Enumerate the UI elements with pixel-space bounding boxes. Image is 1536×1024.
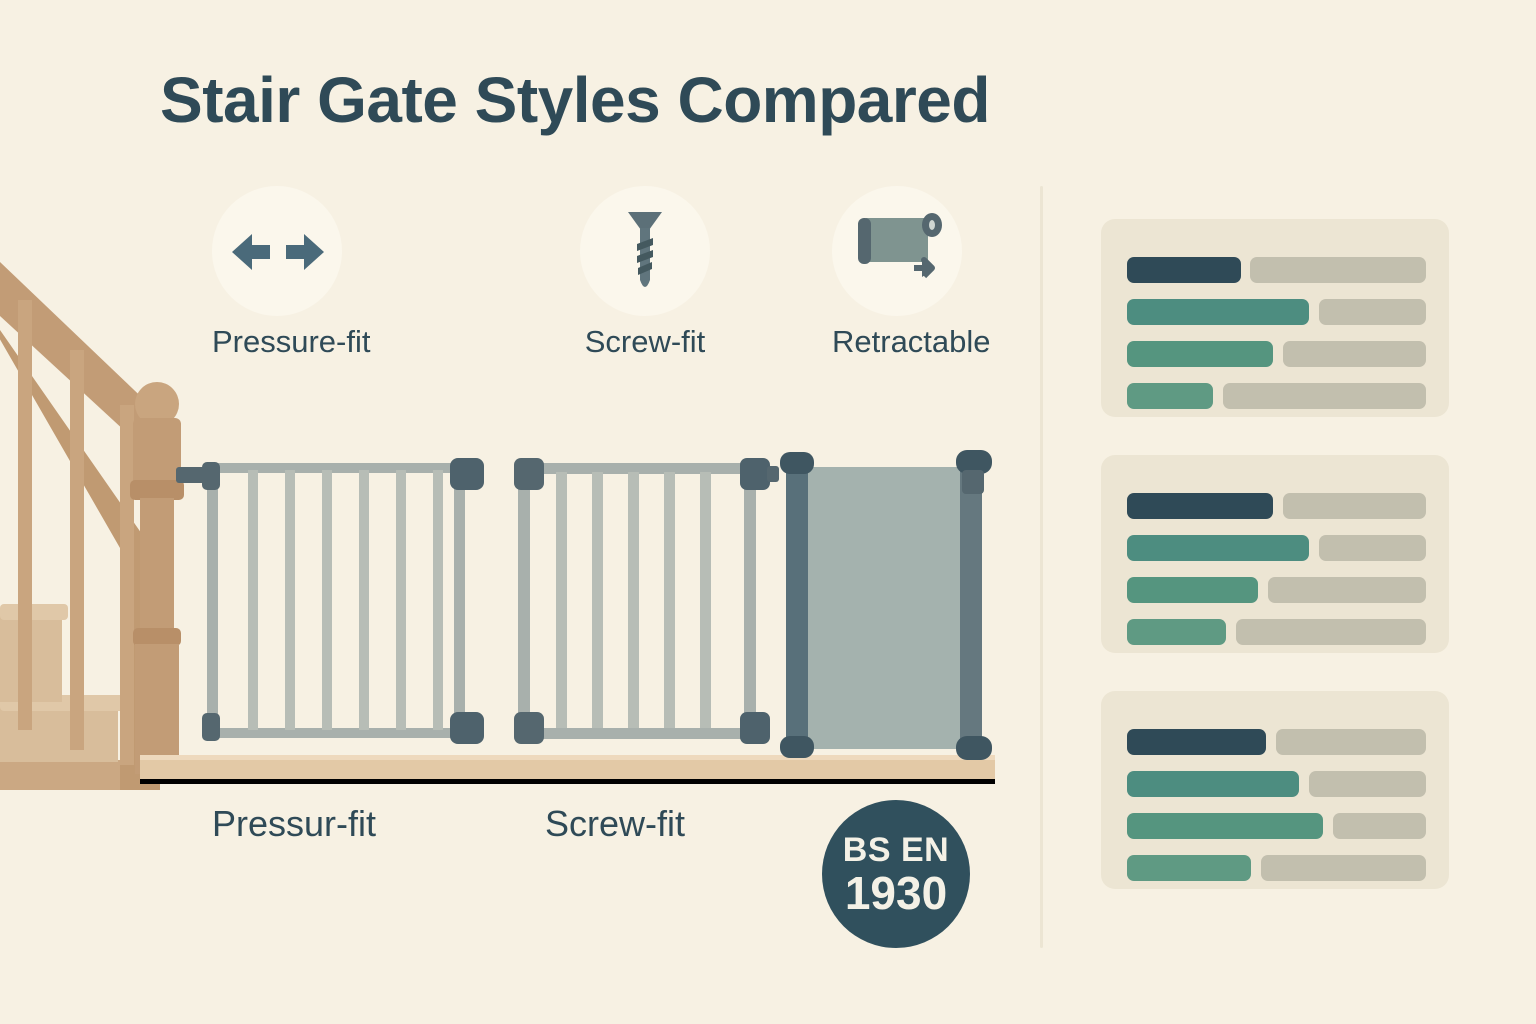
double-arrow-icon (230, 230, 326, 274)
legend-circle-retractable (832, 186, 962, 316)
screw-fit-gate (514, 458, 779, 744)
card-screw-fit[interactable] (1101, 455, 1449, 653)
status-badge: BS EN 1930 (822, 800, 970, 948)
bar-label (1127, 771, 1299, 797)
bar-label (1127, 813, 1323, 839)
bar-label (1127, 535, 1309, 561)
card-row (1101, 813, 1449, 839)
bar-label (1127, 257, 1241, 283)
bar-value (1319, 299, 1426, 325)
bar-value (1309, 771, 1426, 797)
card-row (1101, 341, 1449, 367)
card-row (1101, 855, 1449, 881)
bar-value (1276, 729, 1426, 755)
bar-value (1333, 813, 1426, 839)
legend-item-pressure-fit[interactable]: Pressure-fit (212, 186, 342, 360)
retractable-gate (780, 450, 992, 760)
scene-label-pressure-fit: Pressur-fit (212, 803, 376, 845)
bar-label (1127, 855, 1251, 881)
bar-label (1127, 729, 1266, 755)
bar-value (1223, 383, 1426, 409)
scene-label-screw-fit: Screw-fit (545, 803, 685, 845)
bar-label (1127, 577, 1258, 603)
bar-value (1261, 855, 1426, 881)
retractable-roll-icon (852, 212, 948, 292)
card-row (1101, 383, 1449, 409)
badge-standard-number: 1930 (845, 870, 947, 916)
bar-label (1127, 619, 1226, 645)
card-row (1101, 619, 1449, 645)
bar-value (1268, 577, 1426, 603)
card-row (1101, 729, 1449, 755)
card-row (1101, 493, 1449, 519)
legend-label-pressure-fit: Pressure-fit (212, 324, 342, 360)
bar-value (1319, 535, 1426, 561)
bar-label (1127, 299, 1309, 325)
badge-standard-label: BS EN (843, 833, 949, 867)
legend-label-screw-fit: Screw-fit (580, 324, 710, 360)
infographic-canvas: Stair Gate Styles Compared (0, 0, 1536, 1024)
bar-label (1127, 383, 1213, 409)
bar-value (1250, 257, 1426, 283)
legend-item-screw-fit[interactable]: Screw-fit (580, 186, 710, 360)
pressure-fit-gate (176, 458, 484, 744)
legend-label-retractable: Retractable (832, 324, 962, 360)
legend-circle-pressure-fit (212, 186, 342, 316)
legend-item-retractable[interactable]: Retractable (832, 186, 962, 360)
card-retractable[interactable] (1101, 691, 1449, 889)
bar-value (1236, 619, 1426, 645)
card-row (1101, 299, 1449, 325)
bar-label (1127, 341, 1273, 367)
card-row (1101, 771, 1449, 797)
card-row (1101, 257, 1449, 283)
card-row (1101, 577, 1449, 603)
vertical-divider (1040, 186, 1043, 948)
screw-icon (624, 208, 666, 296)
card-row (1101, 535, 1449, 561)
floor-plank (140, 755, 995, 784)
legend-circle-screw-fit (580, 186, 710, 316)
bar-value (1283, 493, 1426, 519)
bar-value (1283, 341, 1426, 367)
card-pressure-fit[interactable] (1101, 219, 1449, 417)
bar-label (1127, 493, 1273, 519)
